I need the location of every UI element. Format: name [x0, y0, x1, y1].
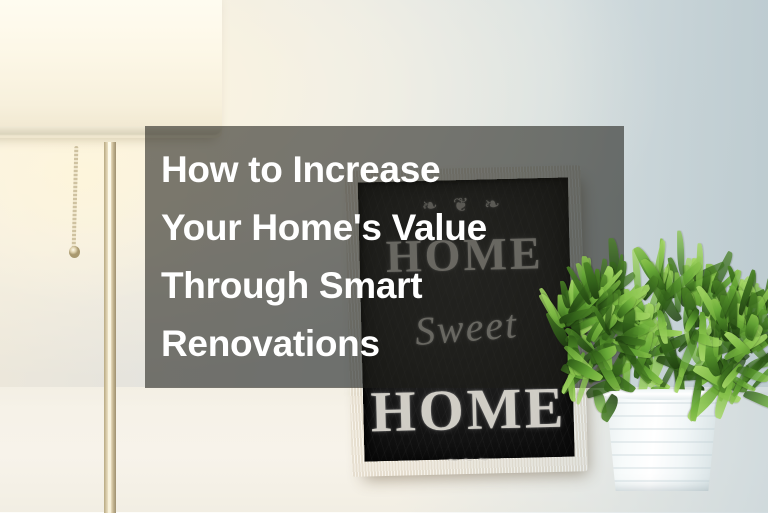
lamp-pull-chain-bead	[69, 246, 80, 258]
lamp-pole-highlight	[108, 142, 111, 513]
headline-overlay-panel: How to Increase Your Home's Value Throug…	[145, 126, 624, 388]
plant-foliage	[548, 262, 768, 408]
page-title: How to Increase Your Home's Value Throug…	[161, 141, 487, 373]
lamp-shade	[0, 0, 222, 138]
hero-image: ❧ ❦ ❧ HOME Sweet HOME ~~~ How to Increas…	[0, 0, 768, 513]
